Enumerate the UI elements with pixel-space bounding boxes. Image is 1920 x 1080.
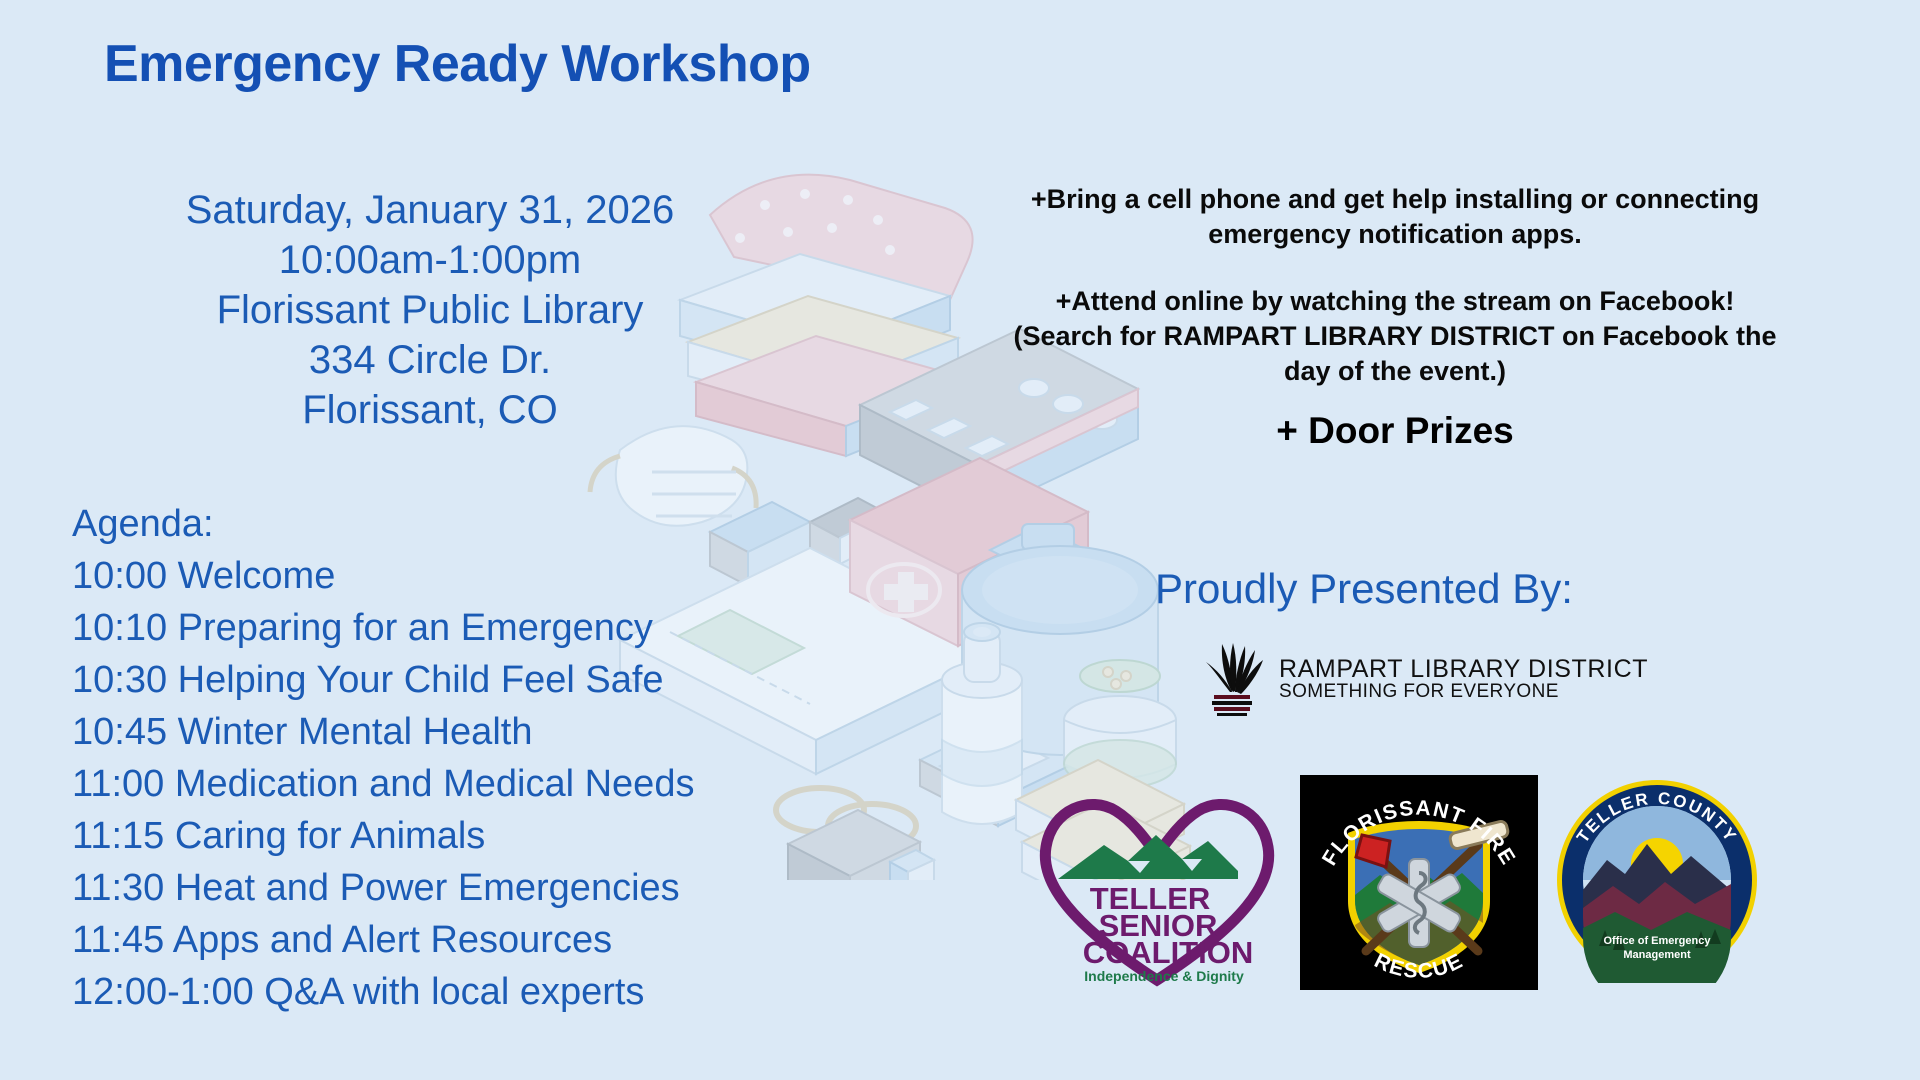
door-prizes-text: + Door Prizes bbox=[965, 413, 1825, 448]
event-venue: Florissant Public Library bbox=[150, 285, 710, 335]
agenda-item: 10:10 Preparing for an Emergency bbox=[72, 602, 694, 654]
notes-spacer bbox=[965, 252, 1825, 284]
event-time: 10:00am-1:00pm bbox=[150, 235, 710, 285]
page-title: Emergency Ready Workshop bbox=[104, 34, 811, 94]
agenda-item: 10:00 Welcome bbox=[72, 550, 694, 602]
event-city-state: Florissant, CO bbox=[150, 385, 710, 435]
event-street: 334 Circle Dr. bbox=[150, 335, 710, 385]
agenda-item: 10:45 Winter Mental Health bbox=[72, 706, 694, 758]
tsc-line3: COALITION bbox=[1083, 935, 1254, 970]
agenda-item: 11:45 Apps and Alert Resources bbox=[72, 914, 694, 966]
agenda-heading: Agenda: bbox=[72, 498, 694, 550]
open-book-fan-icon bbox=[1195, 640, 1269, 718]
event-date: Saturday, January 31, 2026 bbox=[150, 185, 710, 235]
rampart-wordmark: RAMPART LIBRARY DISTRICT SOMETHING FOR E… bbox=[1279, 656, 1648, 702]
note-facebook-search-line2: day of the event.) bbox=[965, 354, 1825, 389]
note-facebook-search-line1: (Search for RAMPART LIBRARY DISTRICT on … bbox=[965, 319, 1825, 354]
note-attend-online: +Attend online by watching the stream on… bbox=[965, 284, 1825, 319]
poster-canvas: .lt{fill:#e9f2fa;stroke:#b9cfe2;stroke-w… bbox=[0, 0, 1920, 1080]
notes-block: +Bring a cell phone and get help install… bbox=[965, 182, 1825, 448]
teller-senior-coalition-logo: TELLER SENIOR COALITION Independence & D… bbox=[1032, 775, 1282, 990]
tsc-tagline: Independence & Dignity bbox=[1084, 968, 1244, 984]
tco-line1: Office of Emergency bbox=[1604, 935, 1712, 947]
agenda-item: 12:00-1:00 Q&A with local experts bbox=[72, 966, 694, 1018]
agenda-item: 10:30 Helping Your Child Feel Safe bbox=[72, 654, 694, 706]
rampart-library-logo: RAMPART LIBRARY DISTRICT SOMETHING FOR E… bbox=[1195, 640, 1648, 718]
note-bring-phone-line1: +Bring a cell phone and get help install… bbox=[965, 182, 1825, 217]
florissant-fire-rescue-logo: FLORISSANT FIRE RESCUE bbox=[1300, 775, 1538, 990]
event-details-block: Saturday, January 31, 2026 10:00am-1:00p… bbox=[150, 185, 710, 435]
tco-line2: Management bbox=[1623, 949, 1691, 961]
rampart-tagline: SOMETHING FOR EVERYONE bbox=[1279, 682, 1648, 702]
agenda-list: Agenda: 10:00 Welcome 10:10 Preparing fo… bbox=[72, 498, 694, 1018]
presented-by-heading: Proudly Presented By: bbox=[1155, 565, 1573, 613]
agenda-item: 11:00 Medication and Medical Needs bbox=[72, 758, 694, 810]
note-bring-phone-line2: emergency notification apps. bbox=[965, 217, 1825, 252]
teller-county-oem-logo: TELLER COUNTY Office of Emergency Manage… bbox=[1555, 778, 1760, 983]
agenda-item: 11:15 Caring for Animals bbox=[72, 810, 694, 862]
agenda-item: 11:30 Heat and Power Emergencies bbox=[72, 862, 694, 914]
rampart-name: RAMPART LIBRARY DISTRICT bbox=[1279, 656, 1648, 682]
